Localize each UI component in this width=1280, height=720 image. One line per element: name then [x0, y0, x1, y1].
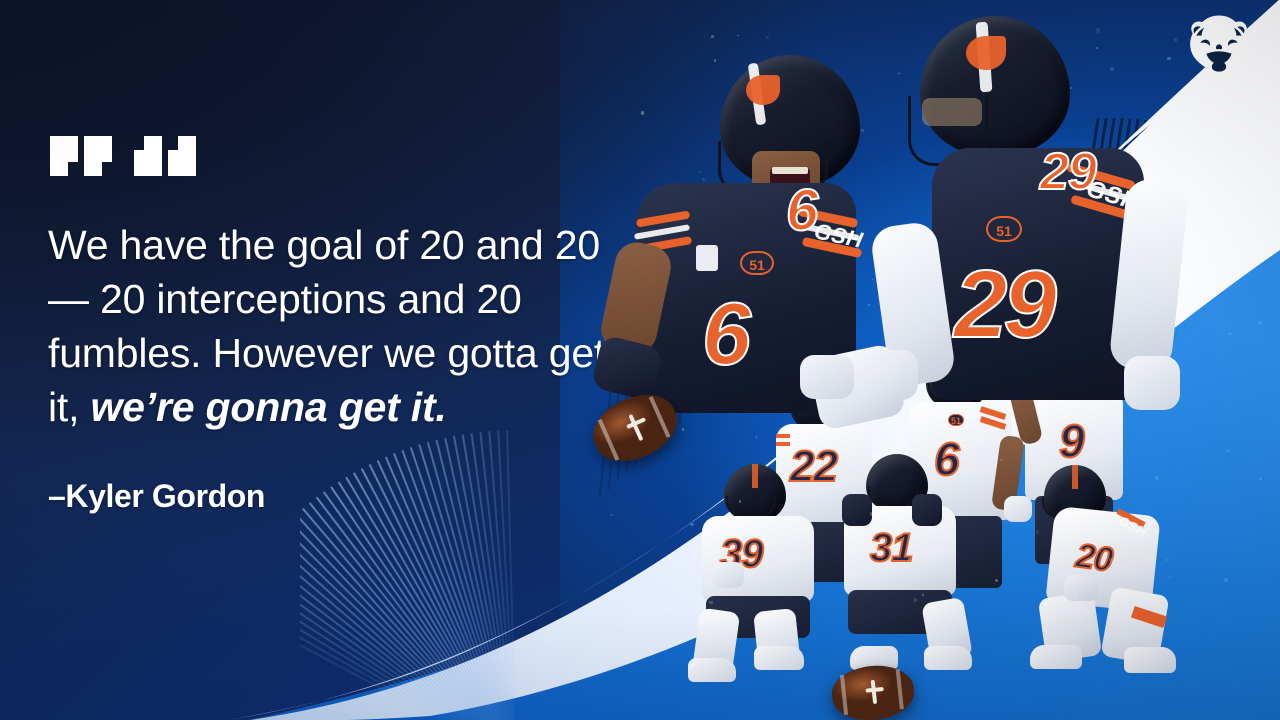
quote-line-3: fumbles. However we gotta	[48, 330, 538, 376]
quotation-marks-icon	[48, 128, 208, 192]
quote-line-1: We have the goal of 20 and	[48, 222, 544, 268]
quote-graphic-canvas: 22 51 6 9	[0, 0, 1280, 720]
quote-text: We have the goal of 20 and 20 — 20 inter…	[48, 218, 618, 434]
player-figure-31: 31	[830, 450, 980, 685]
chicago-bears-bear-head-logo	[1180, 10, 1258, 88]
quote-block: We have the goal of 20 and 20 — 20 inter…	[48, 128, 628, 515]
player-figure-20: GSH 20	[1020, 455, 1190, 690]
player-figure-39: 39	[690, 460, 840, 690]
quote-emphasis: we’re gonna get it.	[90, 384, 446, 430]
quote-attribution: –Kyler Gordon	[48, 478, 628, 515]
